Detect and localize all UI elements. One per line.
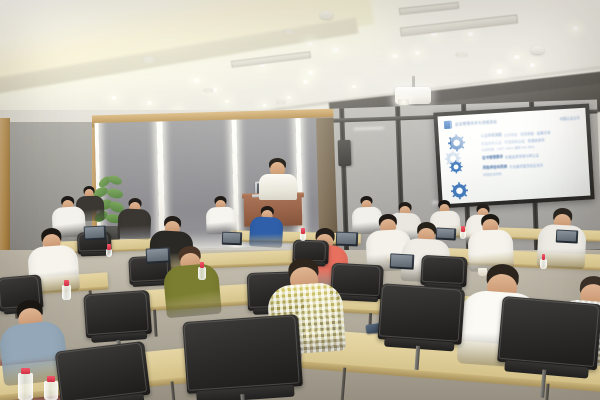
laptop-screen	[337, 233, 356, 245]
chair	[55, 341, 156, 400]
gear-icon	[449, 160, 463, 174]
laptop-screen	[557, 230, 576, 241]
desk-leg	[339, 368, 346, 400]
slide-text-line: 证书管理要求年度监督审核与再认证	[482, 150, 582, 161]
bottle-cap	[47, 376, 55, 382]
bottle-body	[300, 233, 306, 241]
recessed-downlight	[330, 47, 341, 53]
recessed-downlight	[262, 104, 267, 107]
attendee-laptop	[336, 232, 358, 247]
attendee-laptop	[84, 225, 107, 240]
attendee-laptop	[222, 232, 242, 246]
slide-gear-column	[445, 133, 481, 200]
attendee-laptop	[556, 229, 579, 243]
water-bottle	[44, 376, 58, 400]
slide-text-key: 认证审核流程	[481, 133, 502, 139]
attendee-laptop	[390, 253, 415, 269]
bottle-body	[540, 259, 547, 269]
recessed-downlight	[302, 80, 309, 84]
projector-lens	[398, 99, 409, 105]
p-back-mid-woman	[205, 195, 236, 236]
slide-text-key: 证书管理要求	[482, 155, 503, 161]
chair-frame	[56, 342, 147, 400]
chair-frame	[183, 315, 299, 391]
p-back-mid-2	[249, 205, 284, 250]
chair-frame	[421, 256, 464, 284]
chair-frame	[498, 297, 599, 367]
recessed-downlight	[391, 54, 399, 58]
slide-badge-icon	[444, 121, 452, 129]
bottle-body	[198, 267, 206, 280]
bottle-cap	[542, 254, 546, 260]
gear-icon	[450, 182, 468, 200]
chair	[182, 314, 306, 400]
chair	[494, 296, 600, 400]
smoke-detector	[320, 11, 333, 19]
gear-icon	[448, 134, 466, 152]
p-mid-olive	[161, 244, 222, 321]
bottle-body	[62, 285, 71, 300]
slide-text-block: 风险评估与改进不合格项整改验证关闭持续改进机制	[483, 160, 583, 177]
chair-frame	[84, 291, 149, 335]
recessed-downlight	[495, 69, 504, 74]
projection-screen[interactable]: 企业管理体系与流程优化 中国认证认可	[433, 103, 594, 208]
water-bottle	[62, 280, 71, 300]
recessed-downlight	[224, 100, 230, 103]
water-bottle	[300, 228, 306, 241]
slide-title: 企业管理体系与流程优化	[455, 119, 498, 126]
ceiling-vent	[276, 100, 286, 105]
recessed-downlight	[467, 32, 474, 36]
bottle-body	[44, 381, 58, 400]
recessed-downlight	[571, 26, 580, 31]
recessed-downlight	[306, 42, 314, 46]
p-back-left-2	[117, 197, 151, 241]
smoke-detector	[531, 46, 544, 54]
screen-surface: 企业管理体系与流程优化 中国认证认可	[438, 108, 591, 205]
slide-text-column: 认证审核流程文件审查 · 现场审核 · 结果评审质量体系认证 · 环境体系认证 …	[481, 127, 585, 198]
slide-text-key: 风险评估与改进	[483, 164, 508, 170]
bottle-cap	[107, 244, 110, 250]
recessed-downlight	[414, 51, 421, 55]
laptop-screen	[85, 227, 105, 239]
presenter	[256, 158, 300, 200]
slide-text-value: 年度监督审核与再认证	[505, 153, 539, 160]
slide-text-block: 认证审核流程文件审查 · 现场审核 · 结果评审质量体系认证 · 环境体系认证 …	[481, 128, 582, 152]
slide-text-block: 证书管理要求年度监督审核与再认证	[482, 150, 582, 161]
water-bottle	[18, 368, 33, 400]
recessed-downlight	[286, 96, 292, 99]
water-bottle	[106, 244, 112, 257]
person-torso	[249, 217, 283, 249]
presenter-torso	[259, 174, 297, 200]
ceiling-vent	[455, 52, 468, 58]
laptop-screen	[147, 248, 169, 261]
wood-trim-left	[0, 118, 10, 268]
ceiling-vent	[203, 88, 214, 93]
wall-speaker	[338, 140, 352, 166]
chair	[375, 283, 465, 385]
chair	[77, 231, 113, 294]
bottle-cap	[21, 368, 29, 374]
recessed-downlight	[146, 101, 153, 105]
glass-reflection	[354, 127, 384, 131]
person-torso	[206, 206, 237, 235]
chair-post	[414, 346, 420, 370]
recessed-downlight	[351, 85, 357, 88]
attendee-laptop	[436, 227, 457, 240]
attendee-laptop	[146, 247, 171, 263]
recessed-downlight	[513, 55, 521, 59]
laptop-screen	[437, 229, 454, 239]
water-bottle	[460, 226, 466, 239]
recessed-downlight	[110, 96, 118, 100]
laptop-screen	[223, 233, 240, 244]
conference-room-photo: 企业管理体系与流程优化 中国认证认可	[0, 0, 600, 400]
person-torso	[163, 263, 222, 318]
slide-brand-text: 中国认证认可	[559, 115, 580, 121]
bottle-body	[18, 373, 33, 400]
water-bottle	[540, 254, 547, 269]
recessed-downlight	[306, 70, 315, 75]
recessed-downlight	[192, 78, 201, 83]
slide-content: 企业管理体系与流程优化 中国认证认可	[438, 108, 591, 205]
water-bottle	[198, 262, 206, 280]
slide-body: 认证审核流程文件审查 · 现场审核 · 结果评审质量体系认证 · 环境体系认证 …	[445, 127, 585, 200]
chair-seat[interactable]	[80, 252, 109, 257]
bottle-body	[460, 231, 466, 239]
person-torso	[117, 209, 151, 240]
laptop-screen	[391, 254, 413, 267]
recessed-downlight	[529, 63, 536, 67]
bottle-body	[106, 249, 112, 257]
bottle-cap	[301, 228, 304, 234]
bottle-cap	[200, 262, 204, 268]
bottle-cap	[64, 280, 69, 286]
chair-frame	[379, 284, 462, 341]
bottle-cap	[461, 226, 464, 232]
